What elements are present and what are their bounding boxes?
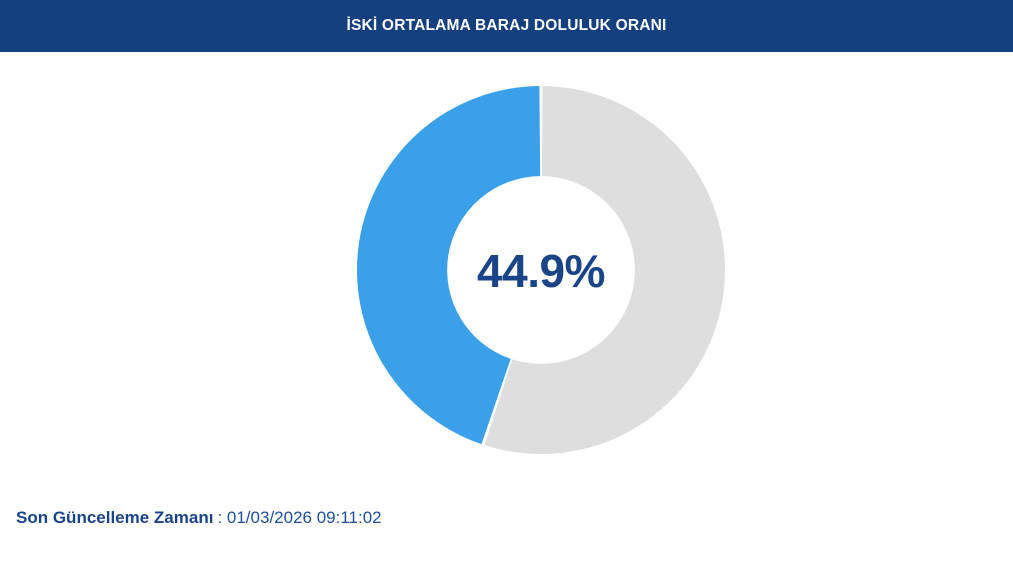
page-title: İSKİ ORTALAMA BARAJ DOLULUK ORANI bbox=[346, 18, 666, 34]
chart-area: 44.9% bbox=[0, 52, 1013, 492]
last-update-label: Son Güncelleme Zamanı bbox=[16, 508, 213, 528]
page-header: İSKİ ORTALAMA BARAJ DOLULUK ORANI bbox=[0, 0, 1013, 52]
donut-svg bbox=[357, 86, 725, 454]
last-update-row: Son Güncelleme Zamanı : 01/03/2026 09:11… bbox=[16, 508, 382, 528]
last-update-value: : 01/03/2026 09:11:02 bbox=[217, 508, 381, 528]
donut-slice-group bbox=[357, 86, 725, 454]
dam-occupancy-donut-chart: 44.9% bbox=[357, 86, 725, 454]
